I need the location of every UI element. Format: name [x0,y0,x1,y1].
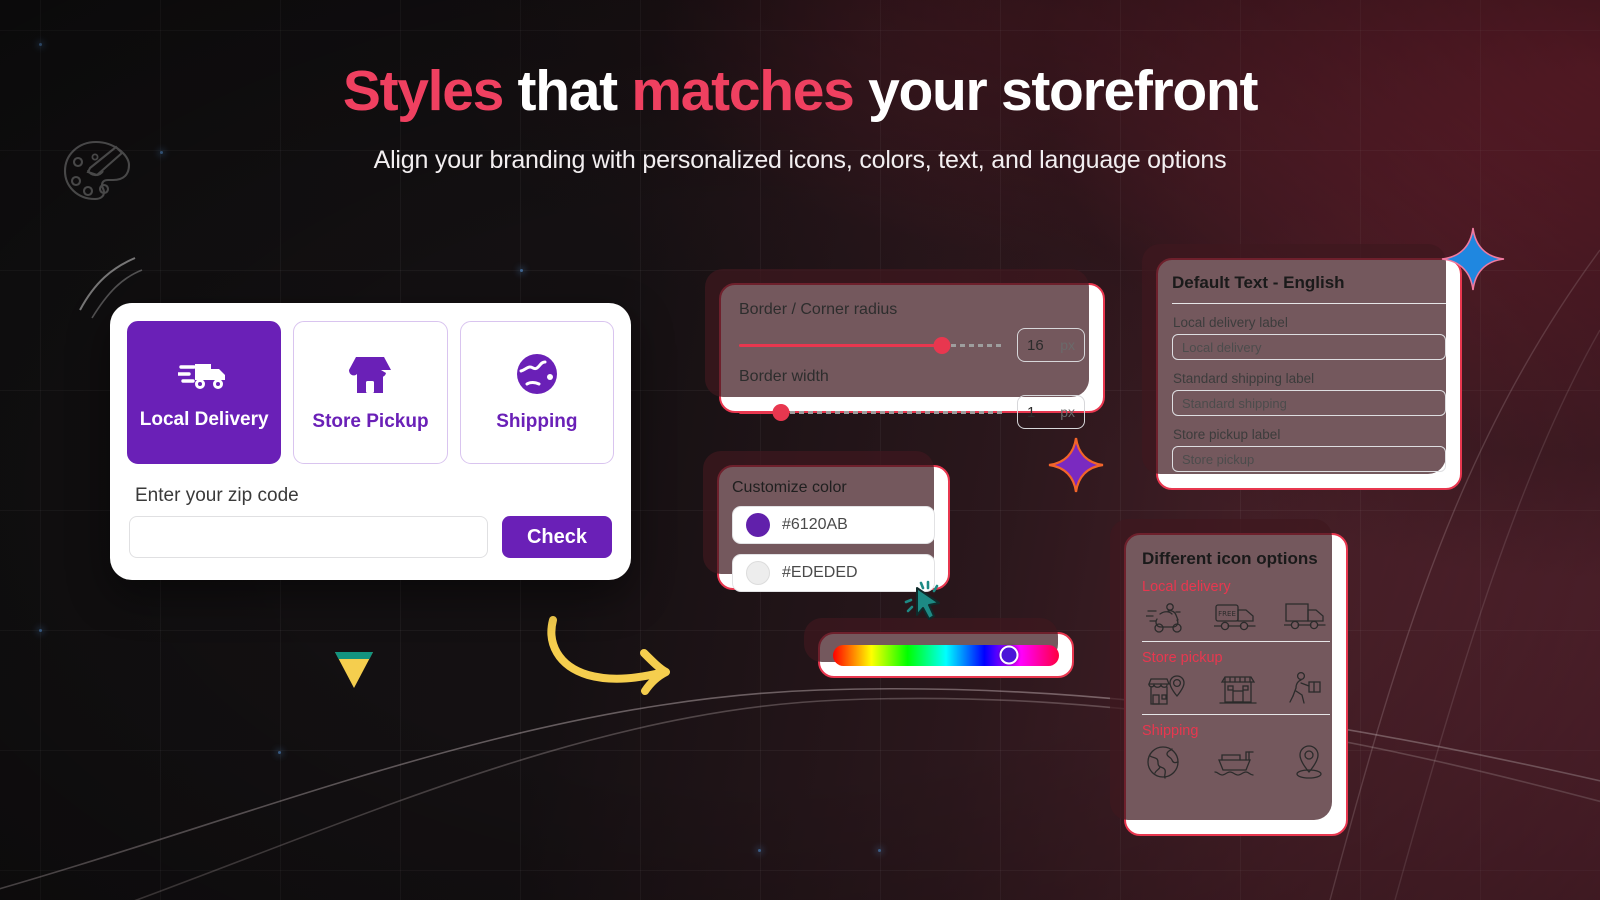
zip-code-label: Enter your zip code [135,485,614,507]
delivery-method-widget: Local Delivery Store Pickup Sh [110,303,631,580]
title-part-2: that [518,59,632,123]
four-point-star-icon [1440,226,1506,292]
icon-group-label-local-delivery: Local delivery [1142,579,1330,595]
svg-text:FREE: FREE [1218,610,1236,618]
storefront-icon[interactable] [1218,672,1258,706]
primary-color-hex: #6120AB [782,516,848,534]
slider-row-corner-radius: Border / Corner radius 16 px [739,301,1085,362]
icon-group-label-shipping: Shipping [1142,723,1330,739]
border-width-slider[interactable] [739,403,1003,421]
slider-row-border-width: Border width 1 px [739,368,1085,429]
value-text: 16 [1027,337,1044,354]
page-subtitle: Align your branding with personalized ic… [0,146,1600,175]
icon-row-shipping [1142,742,1330,787]
free-delivery-truck-icon[interactable]: FREE [1214,601,1256,633]
tab-local-delivery[interactable]: Local Delivery [127,321,281,464]
primary-color-swatch[interactable] [746,513,770,537]
divider [1142,714,1330,715]
tab-label: Local Delivery [140,409,269,431]
globe-icon [516,353,558,395]
delivery-truck-icon [178,355,230,393]
four-point-star-icon [1047,436,1105,494]
secondary-color-hex: #EDEDED [782,564,858,582]
scooter-delivery-icon[interactable] [1146,600,1186,634]
store-location-pin-icon[interactable] [1146,671,1188,707]
divider [1142,641,1330,642]
icon-row-store-pickup [1142,669,1330,714]
tab-store-pickup[interactable]: Store Pickup [293,321,447,464]
local-delivery-label: Local delivery label [1173,315,1446,330]
default-text-title: Default Text - English [1172,273,1446,304]
customize-color-title: Customize color [732,479,935,497]
slider-label: Border width [739,368,1085,386]
unit-text: px [1060,404,1075,420]
hue-slider-card [818,632,1074,678]
title-part-3: matches [631,59,868,123]
hue-slider-thumb[interactable] [1000,646,1019,665]
icon-group-label-store-pickup: Store pickup [1142,650,1330,666]
slider-thumb[interactable] [773,404,790,421]
glow-dot [758,849,761,852]
store-icon [348,353,392,395]
delivery-method-tabs: Local Delivery Store Pickup Sh [127,321,614,464]
store-pickup-input[interactable]: Store pickup [1172,446,1446,472]
title-part-1: Styles [343,59,518,123]
slider-label: Border / Corner radius [739,301,1085,319]
page-header: Styles that matches your storefront Alig… [0,0,1600,175]
slider-track-row: 1 px [739,395,1085,429]
slider-thumb[interactable] [934,337,951,354]
standard-shipping-input[interactable]: Standard shipping [1172,390,1446,416]
corner-radius-value-box[interactable]: 16 px [1017,328,1085,362]
zip-code-input[interactable] [129,516,488,558]
local-delivery-input[interactable]: Local delivery [1172,334,1446,360]
page-title: Styles that matches your storefront [0,58,1600,124]
glow-dot [878,849,881,852]
border-width-value-box[interactable]: 1 px [1017,395,1085,429]
tab-label: Shipping [496,411,577,433]
border-settings-card: Border / Corner radius 16 px Border widt… [719,283,1105,413]
tab-shipping[interactable]: Shipping [460,321,614,464]
hue-slider-track[interactable] [833,645,1059,666]
check-button[interactable]: Check [502,516,612,558]
glow-dot [39,629,42,632]
icon-options-title: Different icon options [1142,549,1330,569]
corner-radius-slider[interactable] [739,336,1003,354]
standard-shipping-label: Standard shipping label [1173,371,1446,386]
value-text: 1 [1027,404,1035,421]
cargo-ship-icon[interactable] [1214,746,1258,778]
default-text-card: Default Text - English Local delivery la… [1156,258,1462,490]
glow-dot [520,269,523,272]
icon-row-local-delivery: FREE [1142,598,1330,641]
globe-icon[interactable] [1146,745,1180,779]
curved-arrow-icon [540,615,690,695]
unit-text: px [1060,337,1075,353]
secondary-color-swatch[interactable] [746,561,770,585]
location-pin-icon[interactable] [1292,744,1326,780]
zip-code-row: Check [127,516,614,558]
truck-icon[interactable] [1284,601,1326,633]
customize-color-card: Customize color #6120AB #EDEDED [717,465,950,590]
triangle-shape [333,650,375,690]
icon-options-card: Different icon options Local delivery [1124,533,1348,836]
courier-walking-icon[interactable] [1288,671,1326,707]
glow-dot [278,751,281,754]
click-cursor-icon [901,578,949,626]
page-background: Styles that matches your storefront Alig… [0,0,1600,900]
store-pickup-label: Store pickup label [1173,427,1446,442]
primary-color-row[interactable]: #6120AB [732,506,935,544]
title-part-4: your storefront [868,59,1257,123]
tab-label: Store Pickup [312,411,428,433]
slider-track-row: 16 px [739,328,1085,362]
